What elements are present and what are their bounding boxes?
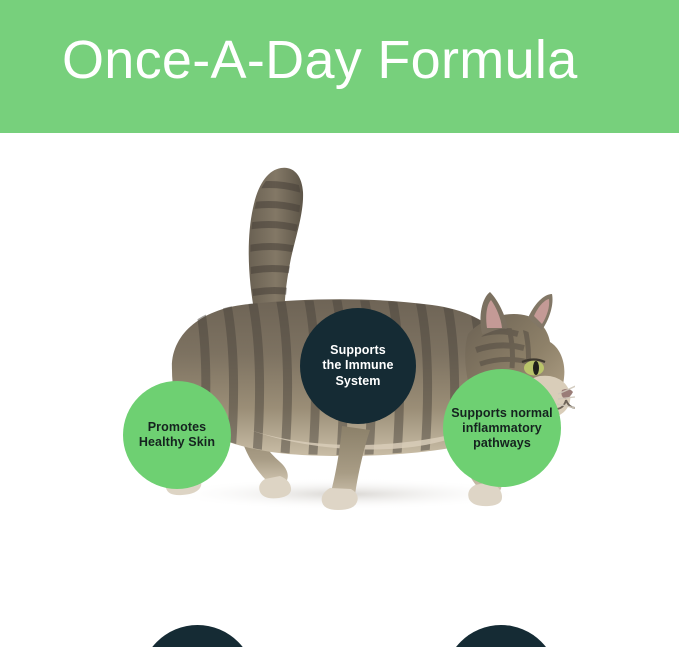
benefit-line: pathways (473, 436, 531, 450)
benefit-line: the Immune (322, 358, 393, 372)
benefit-bubble-skin: Promotes Healthy Skin (123, 381, 231, 489)
benefit-line: Supports normal (451, 406, 553, 420)
page-title: Once-A-Day Formula (62, 27, 578, 93)
benefit-label-immune: Supports the Immune System (313, 343, 402, 390)
benefit-bubble-heart: Supports heart health (444, 625, 558, 647)
benefit-label-skin: Promotes Healthy Skin (130, 420, 224, 451)
benefit-label-inflammatory: Supports normal inflammatory pathways (447, 406, 557, 451)
benefit-line: Healthy Skin (139, 435, 215, 449)
header-banner: Once-A-Day Formula (0, 0, 679, 133)
benefit-line: Promotes (148, 420, 206, 434)
benefit-bubble-immune: Supports the Immune System (300, 308, 416, 424)
benefit-bubble-joint: Supports joint health (140, 625, 255, 647)
product-infographic: Once-A-Day Formula (0, 0, 679, 647)
benefit-line: inflammatory (462, 421, 542, 435)
benefit-bubble-inflammatory: Supports normal inflammatory pathways (443, 369, 561, 487)
benefit-line: System (335, 374, 380, 388)
benefit-line: Supports (330, 343, 386, 357)
cat-artwork-stage: Supports the Immune System Promotes Heal… (0, 133, 679, 647)
